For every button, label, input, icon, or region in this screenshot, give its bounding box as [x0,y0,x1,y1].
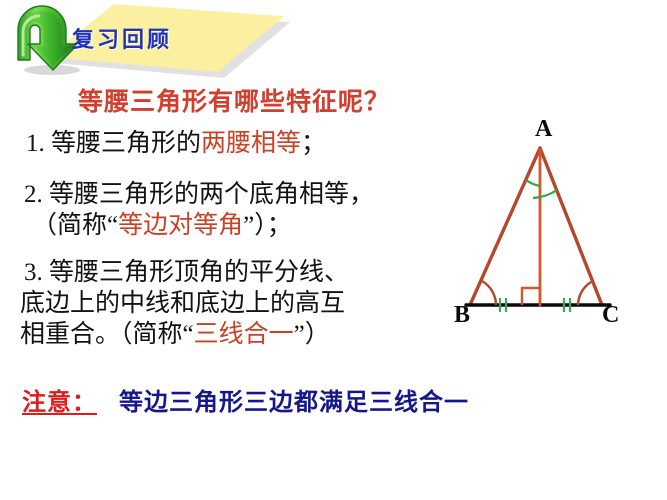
apex-angle-arc-right [533,190,557,198]
triangle-side-ac [540,148,602,305]
list-item-3-line2: 底边上的中线和底边上的高互 [20,288,458,319]
banner: 复习回顾 [0,0,290,78]
triangle-diagram-svg [440,110,667,345]
apex-angle-arc-left [526,180,540,186]
base-angle-arc-c [578,282,591,305]
page-title: 等腰三角形有哪些特征呢？ [78,82,390,118]
list-item-3-suffix: ”） [294,321,330,348]
list-item-2-highlight: 等边对等角 [118,212,243,239]
list-item-2-line2: （简称“等边对等角”）； [32,210,458,241]
list-item-3-line1: 3. 等腰三角形顶角的平分线、 [24,257,458,288]
characteristics-list: 1. 等腰三角形的两腰相等； 2. 等腰三角形的两个底角相等， （简称“等边对等… [18,128,458,350]
base-angle-arc-b [482,281,496,305]
list-item-2-suffix: ”）； [243,212,292,239]
note-text: 等边三角形三边都满足三线合一 [119,390,469,416]
list-item-1-suffix: ； [301,130,326,157]
triangle-side-ab [470,148,540,305]
list-item-1-highlight: 两腰相等 [201,130,301,157]
list-item-3-prefix: 相重合。（简称“ [20,321,194,348]
list-item-1-prefix: 1. 等腰三角形的 [26,130,201,157]
list-item-3-line3: 相重合。（简称“三线合一”） [20,319,458,350]
triangle-diagram: A B C [440,110,667,345]
list-item-1: 1. 等腰三角形的两腰相等； [26,128,458,159]
note-label: 注意： [22,390,97,416]
right-angle-square [522,288,540,305]
vertex-label-c: C [602,302,619,329]
list-item-2-line1: 2. 等腰三角形的两个底角相等， [24,179,458,210]
list-item-2-prefix: （简称“ [32,212,118,239]
banner-title: 复习回顾 [72,22,172,54]
list-item-3-highlight: 三线合一 [194,321,294,348]
note-row: 注意：等边三角形三边都满足三线合一 [22,382,469,417]
vertex-label-b: B [454,302,470,329]
vertex-label-a: A [535,116,552,143]
